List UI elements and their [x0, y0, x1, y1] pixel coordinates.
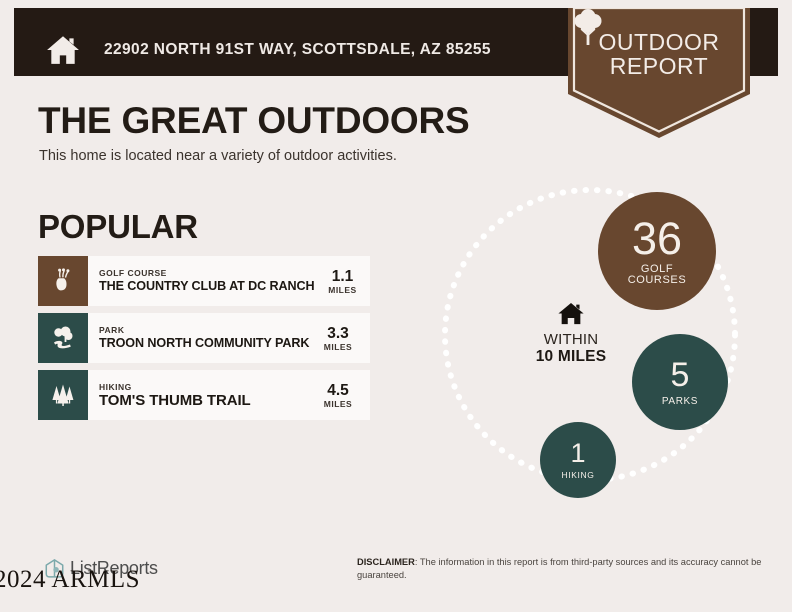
stat-count: 1: [570, 440, 585, 467]
park-tree-icon: [50, 325, 76, 351]
page-subtitle: This home is located near a variety of o…: [39, 148, 397, 164]
list-item-name: TROON NORTH COMMUNITY PARK: [99, 336, 310, 351]
stat-label: HIKING: [562, 470, 595, 481]
list-item-distance: 1.1 MILES: [314, 256, 374, 306]
pine-trees-icon: [50, 382, 76, 408]
badge-line1: OUTDOOR: [598, 29, 719, 55]
list-item-category: PARK: [99, 325, 310, 336]
list-item-distance: 4.5 MILES: [310, 370, 370, 420]
stat-label: GOLF COURSES: [628, 264, 687, 286]
list-item-text: HIKING TOM'S THUMB TRAIL: [88, 370, 310, 420]
golf-bag-icon: [50, 268, 76, 294]
stat-label: PARKS: [662, 396, 698, 407]
diagram-center-label: WITHIN 10 MILES: [516, 302, 626, 366]
disclaimer-label: DISCLAIMER: [357, 557, 415, 567]
page-title: THE GREAT OUTDOORS: [38, 100, 470, 142]
list-item-distance: 3.3 MILES: [310, 313, 370, 363]
stat-bubble-golf-courses[interactable]: 36 GOLF COURSES: [598, 192, 716, 310]
popular-heading: POPULAR: [38, 208, 198, 246]
popular-list: GOLF COURSE THE COUNTRY CLUB AT DC RANCH…: [38, 256, 370, 427]
outdoor-report-page: 22902 NORTH 91ST WAY, SCOTTSDALE, AZ 852…: [0, 0, 792, 612]
proximity-diagram: 36 GOLF COURSES 5 PARKS 1 HIKING WITHIN …: [418, 180, 778, 520]
list-item-name: THE COUNTRY CLUB AT DC RANCH: [99, 279, 314, 294]
list-item[interactable]: GOLF COURSE THE COUNTRY CLUB AT DC RANCH…: [38, 256, 370, 306]
badge-line2: REPORT: [610, 53, 708, 79]
list-item[interactable]: PARK TROON NORTH COMMUNITY PARK 3.3 MILE…: [38, 313, 370, 363]
outdoor-report-badge: OUTDOOR REPORT: [568, 8, 750, 138]
list-item-name: TOM'S THUMB TRAIL: [99, 393, 310, 408]
list-item-category: GOLF COURSE: [99, 268, 314, 279]
tree-icon: [568, 8, 608, 48]
list-item-distance-value: 1.1: [332, 268, 354, 285]
stat-bubble-parks[interactable]: 5 PARKS: [632, 334, 728, 430]
diagram-center-line2: 10 MILES: [516, 348, 626, 366]
list-item-icon-tile: [38, 370, 88, 420]
list-item-text: GOLF COURSE THE COUNTRY CLUB AT DC RANCH: [88, 256, 314, 306]
list-item-distance-unit: MILES: [324, 342, 352, 352]
stat-label-line2: COURSES: [628, 274, 687, 286]
disclaimer-text: : The information in this report is from…: [357, 557, 761, 580]
disclaimer: DISCLAIMER: The information in this repo…: [357, 556, 769, 581]
armls-watermark: 2024 ARMLS: [0, 566, 140, 594]
list-item-text: PARK TROON NORTH COMMUNITY PARK: [88, 313, 310, 363]
list-item-icon-tile: [38, 313, 88, 363]
list-item[interactable]: HIKING TOM'S THUMB TRAIL 4.5 MILES: [38, 370, 370, 420]
home-icon: [558, 302, 584, 325]
list-item-icon-tile: [38, 256, 88, 306]
diagram-center-line1: WITHIN: [516, 331, 626, 348]
list-item-distance-value: 4.5: [327, 382, 349, 399]
header-address: 22902 NORTH 91ST WAY, SCOTTSDALE, AZ 852…: [104, 41, 491, 59]
stat-bubble-hiking[interactable]: 1 HIKING: [540, 422, 616, 498]
stat-count: 36: [632, 216, 682, 261]
list-item-distance-unit: MILES: [324, 399, 352, 409]
list-item-distance-value: 3.3: [327, 325, 349, 342]
stat-count: 5: [671, 358, 690, 392]
home-icon: [46, 33, 80, 67]
list-item-distance-unit: MILES: [328, 285, 356, 295]
